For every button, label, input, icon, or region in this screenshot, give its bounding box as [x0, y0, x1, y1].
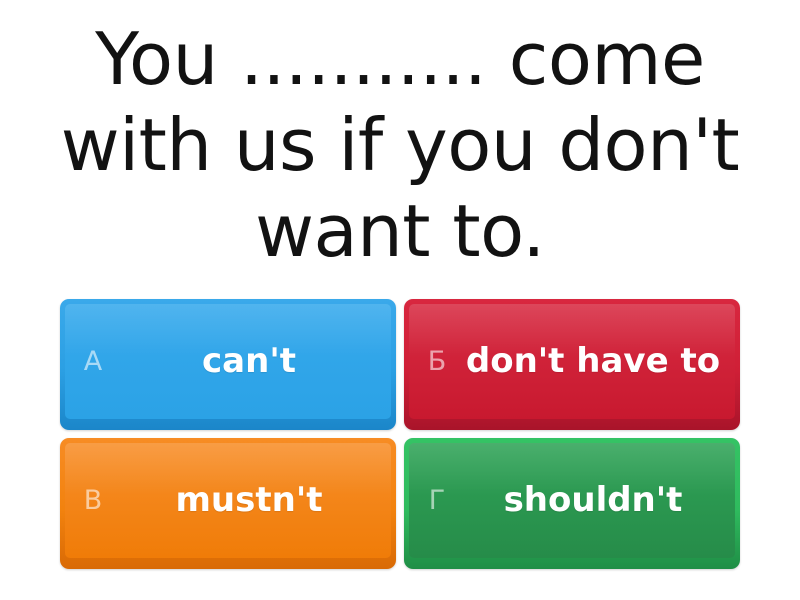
question-area: You ........... come with us if you don'… [0, 0, 800, 292]
answer-option-d-letter: Г [409, 487, 465, 514]
answer-option-c[interactable]: В mustn't [60, 438, 396, 569]
answer-option-b[interactable]: Б don't have to [404, 299, 740, 430]
answer-option-a-label: can't [121, 343, 391, 380]
answer-option-d-label: shouldn't [465, 482, 735, 519]
answer-option-b-letter: Б [409, 348, 465, 375]
question-text: You ........... come with us if you don'… [60, 17, 740, 274]
answer-option-a[interactable]: A can't [60, 299, 396, 430]
answer-option-c-letter: В [65, 487, 121, 514]
answer-option-d[interactable]: Г shouldn't [404, 438, 740, 569]
answer-option-b-face: Б don't have to [409, 304, 735, 419]
answer-option-c-label: mustn't [121, 482, 391, 519]
quiz-screen: You ........... come with us if you don'… [0, 0, 800, 600]
answer-option-b-label: don't have to [465, 343, 735, 380]
answer-option-c-face: В mustn't [65, 443, 391, 558]
answer-option-a-face: A can't [65, 304, 391, 419]
answer-options-grid: A can't Б don't have to В mustn't Г shou… [60, 299, 740, 569]
answer-option-a-letter: A [65, 348, 121, 375]
answer-option-d-face: Г shouldn't [409, 443, 735, 558]
